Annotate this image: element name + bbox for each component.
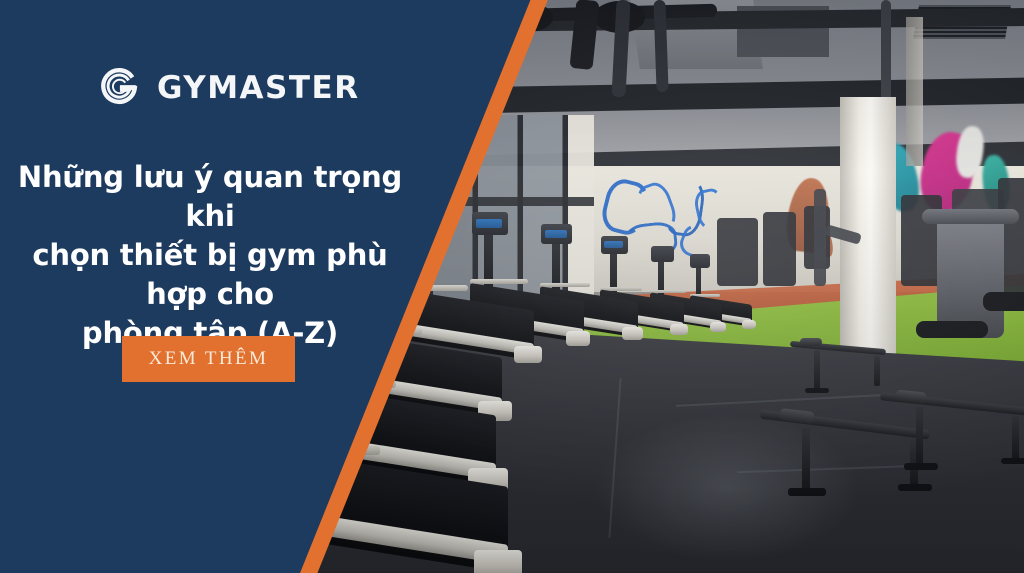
- brand-logo[interactable]: GYMASTER: [95, 64, 360, 112]
- read-more-button[interactable]: XEM THÊM: [122, 336, 295, 382]
- headline-line-2: chọn thiết bị gym phù hợp cho: [10, 236, 410, 314]
- strength-machine-arm: [922, 209, 1019, 224]
- page-title: Những lưu ý quan trọng khi chọn thiết bị…: [10, 158, 410, 353]
- banner-content: GYMASTER Những lưu ý quan trọng khi chọn…: [0, 0, 420, 573]
- cardio-machine: [814, 189, 826, 286]
- strength-machine: [937, 212, 1004, 338]
- headline-line-1: Những lưu ý quan trọng khi: [10, 158, 410, 236]
- promo-banner: GYMASTER Những lưu ý quan trọng khi chọn…: [0, 0, 1024, 573]
- structural-column: [906, 17, 922, 166]
- machine-pad: [983, 292, 1024, 310]
- background-machine: [717, 218, 758, 287]
- brand-wordmark: GYMASTER: [157, 73, 360, 104]
- read-more-button-label: XEM THÊM: [149, 348, 269, 370]
- machine-pad: [916, 321, 988, 338]
- gymaster-g-logo-icon: [95, 64, 143, 112]
- background-machine: [763, 212, 796, 286]
